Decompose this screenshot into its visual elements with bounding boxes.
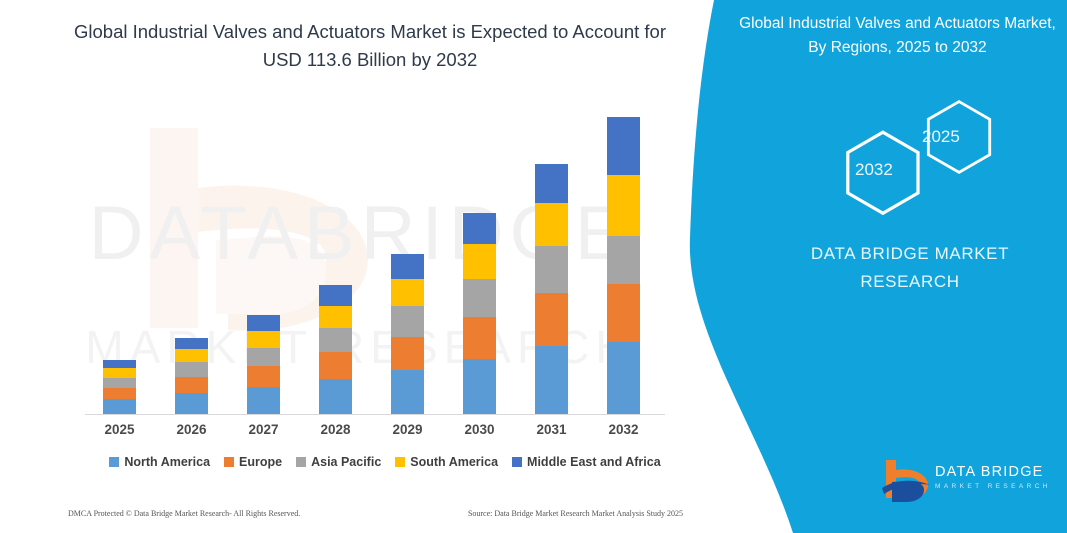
bar-2028[interactable] (319, 285, 352, 414)
bar-segment-south-america[interactable] (463, 244, 496, 279)
bar-segment-south-america[interactable] (607, 175, 640, 236)
bar-segment-europe[interactable] (391, 337, 424, 371)
footer-source: Source: Data Bridge Market Research Mark… (468, 509, 683, 518)
bar-segment-north-america[interactable] (391, 370, 424, 414)
x-axis-label-2027: 2027 (234, 422, 294, 437)
bar-2029[interactable] (391, 254, 424, 414)
bar-2026[interactable] (175, 338, 208, 414)
x-axis-labels: 20252026202720282029203020312032 (85, 422, 670, 442)
brand-name: DATA BRIDGE MARKET RESEARCH (760, 240, 1060, 296)
legend-swatch-icon (224, 457, 234, 467)
bar-segment-south-america[interactable] (535, 203, 568, 246)
bar-segment-north-america[interactable] (319, 379, 352, 414)
legend-swatch-icon (296, 457, 306, 467)
x-axis-line (85, 414, 665, 415)
legend-swatch-icon (109, 457, 119, 467)
x-axis-label-2025: 2025 (90, 422, 150, 437)
legend-label: Europe (239, 455, 282, 469)
bar-segment-middle-east-and-africa[interactable] (391, 254, 424, 279)
infographic-root: DATABRIDGE MARKET RESEARCH Global Indust… (0, 0, 1067, 533)
x-axis-label-2028: 2028 (306, 422, 366, 437)
bar-segment-south-america[interactable] (175, 349, 208, 362)
logo-wordmark-line-1: DATA BRIDGE (935, 464, 1051, 480)
legend-label: Middle East and Africa (527, 455, 661, 469)
bar-segment-europe[interactable] (463, 317, 496, 359)
bar-segment-asia-pacific[interactable] (391, 306, 424, 336)
bar-segment-europe[interactable] (319, 352, 352, 379)
x-axis-label-2026: 2026 (162, 422, 222, 437)
bar-segment-europe[interactable] (535, 293, 568, 345)
bar-segment-south-america[interactable] (391, 279, 424, 307)
legend-item-asia-pacific[interactable]: Asia Pacific (296, 455, 381, 469)
bar-segment-asia-pacific[interactable] (535, 246, 568, 293)
legend-item-middle-east-and-africa[interactable]: Middle East and Africa (512, 455, 661, 469)
x-axis-label-2032: 2032 (594, 422, 654, 437)
legend-swatch-icon (395, 457, 405, 467)
footer-copyright: DMCA Protected © Data Bridge Market Rese… (68, 509, 300, 518)
bar-segment-south-america[interactable] (247, 331, 280, 348)
legend-item-north-america[interactable]: North America (109, 455, 210, 469)
brand-name-line-2: RESEARCH (760, 268, 1060, 296)
company-logo: DATA BRIDGE MARKET RESEARCH (880, 458, 1060, 510)
hexagon-label-near: 2025 (922, 127, 960, 147)
bar-2031[interactable] (535, 164, 568, 414)
bar-segment-europe[interactable] (103, 388, 136, 399)
bar-segment-north-america[interactable] (103, 399, 136, 414)
bar-segment-north-america[interactable] (535, 346, 568, 414)
bar-segment-middle-east-and-africa[interactable] (535, 164, 568, 203)
bar-chart (85, 100, 670, 415)
x-axis-label-2030: 2030 (450, 422, 510, 437)
brand-name-line-1: DATA BRIDGE MARKET (760, 240, 1060, 268)
bar-segment-asia-pacific[interactable] (463, 279, 496, 317)
bar-segment-middle-east-and-africa[interactable] (463, 213, 496, 245)
hexagon-group: 2032 2025 (820, 98, 1010, 223)
bar-segment-asia-pacific[interactable] (103, 378, 136, 388)
plot-area (85, 104, 670, 415)
bar-segment-asia-pacific[interactable] (319, 328, 352, 352)
x-axis-label-2031: 2031 (522, 422, 582, 437)
bar-segment-middle-east-and-africa[interactable] (319, 285, 352, 305)
hexagon-outlines-icon (820, 98, 1010, 223)
bar-segment-middle-east-and-africa[interactable] (103, 360, 136, 369)
bar-segment-south-america[interactable] (103, 368, 136, 377)
bar-segment-asia-pacific[interactable] (175, 362, 208, 376)
bar-segment-asia-pacific[interactable] (247, 348, 280, 367)
legend-label: Asia Pacific (311, 455, 381, 469)
legend-item-europe[interactable]: Europe (224, 455, 282, 469)
legend-item-south-america[interactable]: South America (395, 455, 498, 469)
bar-segment-asia-pacific[interactable] (607, 236, 640, 284)
bar-segment-europe[interactable] (607, 284, 640, 342)
bar-segment-europe[interactable] (175, 377, 208, 393)
bar-segment-south-america[interactable] (319, 306, 352, 328)
bar-segment-middle-east-and-africa[interactable] (247, 315, 280, 331)
bar-2025[interactable] (103, 360, 136, 414)
hexagon-label-far: 2032 (855, 160, 893, 180)
chart-title: Global Industrial Valves and Actuators M… (55, 18, 685, 74)
bar-segment-europe[interactable] (247, 366, 280, 387)
bar-segment-north-america[interactable] (463, 359, 496, 414)
bar-2027[interactable] (247, 315, 280, 414)
logo-wordmark-line-2: MARKET RESEARCH (935, 483, 1051, 490)
bar-segment-middle-east-and-africa[interactable] (607, 117, 640, 175)
bar-segment-middle-east-and-africa[interactable] (175, 338, 208, 350)
panel-title: Global Industrial Valves and Actuators M… (735, 12, 1060, 60)
chart-legend: North AmericaEuropeAsia PacificSouth Ame… (85, 455, 685, 469)
bar-2030[interactable] (463, 213, 496, 414)
bar-segment-north-america[interactable] (175, 393, 208, 414)
legend-label: South America (410, 455, 498, 469)
footer: DMCA Protected © Data Bridge Market Rese… (68, 509, 683, 518)
legend-swatch-icon (512, 457, 522, 467)
x-axis-label-2029: 2029 (378, 422, 438, 437)
bar-2032[interactable] (607, 117, 640, 414)
bar-segment-north-america[interactable] (607, 342, 640, 414)
logo-wordmark: DATA BRIDGE MARKET RESEARCH (935, 464, 1051, 490)
legend-label: North America (124, 455, 210, 469)
data-bridge-b-logo-icon (880, 458, 932, 504)
bar-segment-north-america[interactable] (247, 387, 280, 414)
